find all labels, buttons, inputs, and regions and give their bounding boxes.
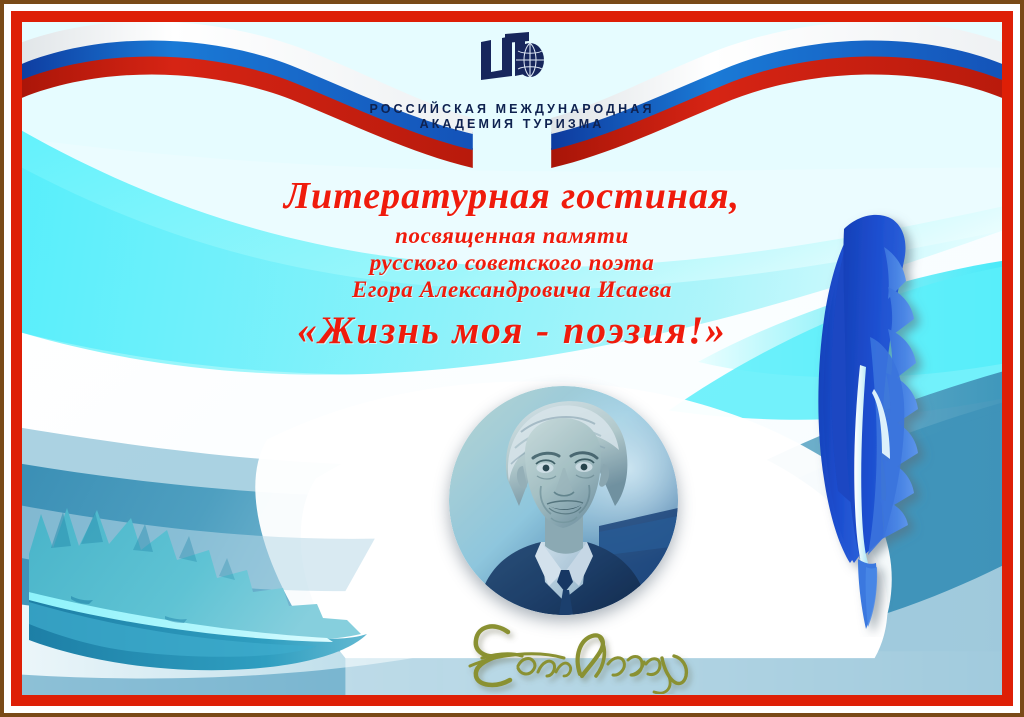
organization-name-line1: РОССИЙСКАЯ МЕЖДУНАРОДНАЯ [22, 102, 1002, 117]
title-line-2: посвященная памяти [22, 222, 1002, 249]
organization-name: РОССИЙСКАЯ МЕЖДУНАРОДНАЯ АКАДЕМИЯ ТУРИЗМ… [22, 102, 1002, 132]
poster: РОССИЙСКАЯ МЕЖДУНАРОДНАЯ АКАДЕМИЯ ТУРИЗМ… [0, 0, 1024, 717]
title-line-4: Егора Александровича Исаева [22, 276, 1002, 303]
title-line-3: русского советского поэта [22, 249, 1002, 276]
poet-signature-image [452, 614, 702, 694]
poster-title-block: Литературная гостиная, посвященная памят… [22, 174, 1002, 355]
rmat-logo-icon [475, 32, 549, 88]
poet-portrait-image [449, 386, 678, 615]
title-line-5-quote: «Жизнь моя - поэзия!» [22, 307, 1002, 355]
poet-portrait [449, 386, 678, 615]
poet-signature [452, 614, 702, 694]
title-line-1: Литературная гостиная, [22, 174, 1002, 219]
teal-feather-icon [27, 492, 387, 695]
poster-header: РОССИЙСКАЯ МЕЖДУНАРОДНАЯ АКАДЕМИЯ ТУРИЗМ… [22, 32, 1002, 132]
organization-name-line2: АКАДЕМИЯ ТУРИЗМА [22, 117, 1002, 132]
frame-inner-red: РОССИЙСКАЯ МЕЖДУНАРОДНАЯ АКАДЕМИЯ ТУРИЗМ… [11, 11, 1013, 706]
poster-canvas: РОССИЙСКАЯ МЕЖДУНАРОДНАЯ АКАДЕМИЯ ТУРИЗМ… [22, 22, 1002, 695]
